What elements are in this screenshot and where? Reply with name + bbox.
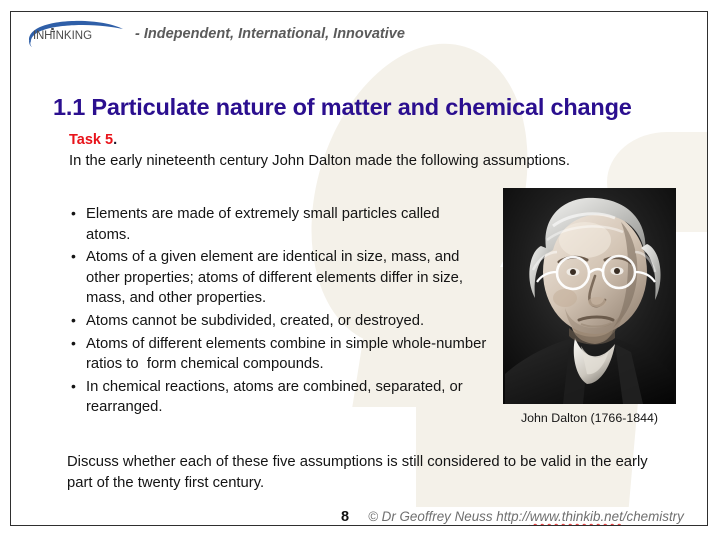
list-item: Atoms cannot be subdivided, created, or … [67,311,487,332]
copyright-prefix: © Dr Geoffrey Neuss http:// [368,509,530,524]
discussion-text: Discuss whether each of these five assum… [67,452,667,493]
copyright-url-spellchecked: www.thinkib.net [530,509,623,524]
logo-wordmark: INHINKING [33,30,92,42]
logo-person-icon [51,28,55,33]
portrait-figure: John Dalton (1766-1844) [503,188,676,425]
header-tagline: - Independent, International, Innovative [135,26,405,42]
slide-canvas: INHINKING - Independent, International, … [10,11,708,526]
copyright-suffix: /chemistry [623,509,684,524]
task-label: Task 5. [69,132,117,148]
inthinking-logo[interactable]: INHINKING [19,19,127,49]
page-number: 8 [341,509,349,525]
slide-header: INHINKING - Independent, International, … [19,17,405,51]
copyright-line[interactable]: © Dr Geoffrey Neuss http://www.thinkib.n… [368,509,684,524]
logo-person-arms [51,31,55,33]
slide-footer: 8 © Dr Geoffrey Neuss http://www.thinkib… [341,509,684,525]
list-item: Elements are made of extremely small par… [67,204,487,245]
assumptions-list: Elements are made of extremely small par… [67,204,487,420]
john-dalton-portrait-image [503,188,676,404]
task-label-text: Task 5 [69,132,113,148]
page-title: 1.1 Particulate nature of matter and che… [53,94,632,121]
task-label-period: . [113,132,117,148]
logo-wordmark-pre: IN [33,30,44,42]
portrait-caption: John Dalton (1766-1844) [503,411,676,425]
list-item: In chemical reactions, atoms are combine… [67,377,487,418]
task-intro-text: In the early nineteenth century John Dal… [69,153,570,169]
list-item: Atoms of a given element are identical i… [67,247,487,309]
slide-content: INHINKING - Independent, International, … [11,12,707,525]
list-item: Atoms of different elements combine in s… [67,334,487,375]
